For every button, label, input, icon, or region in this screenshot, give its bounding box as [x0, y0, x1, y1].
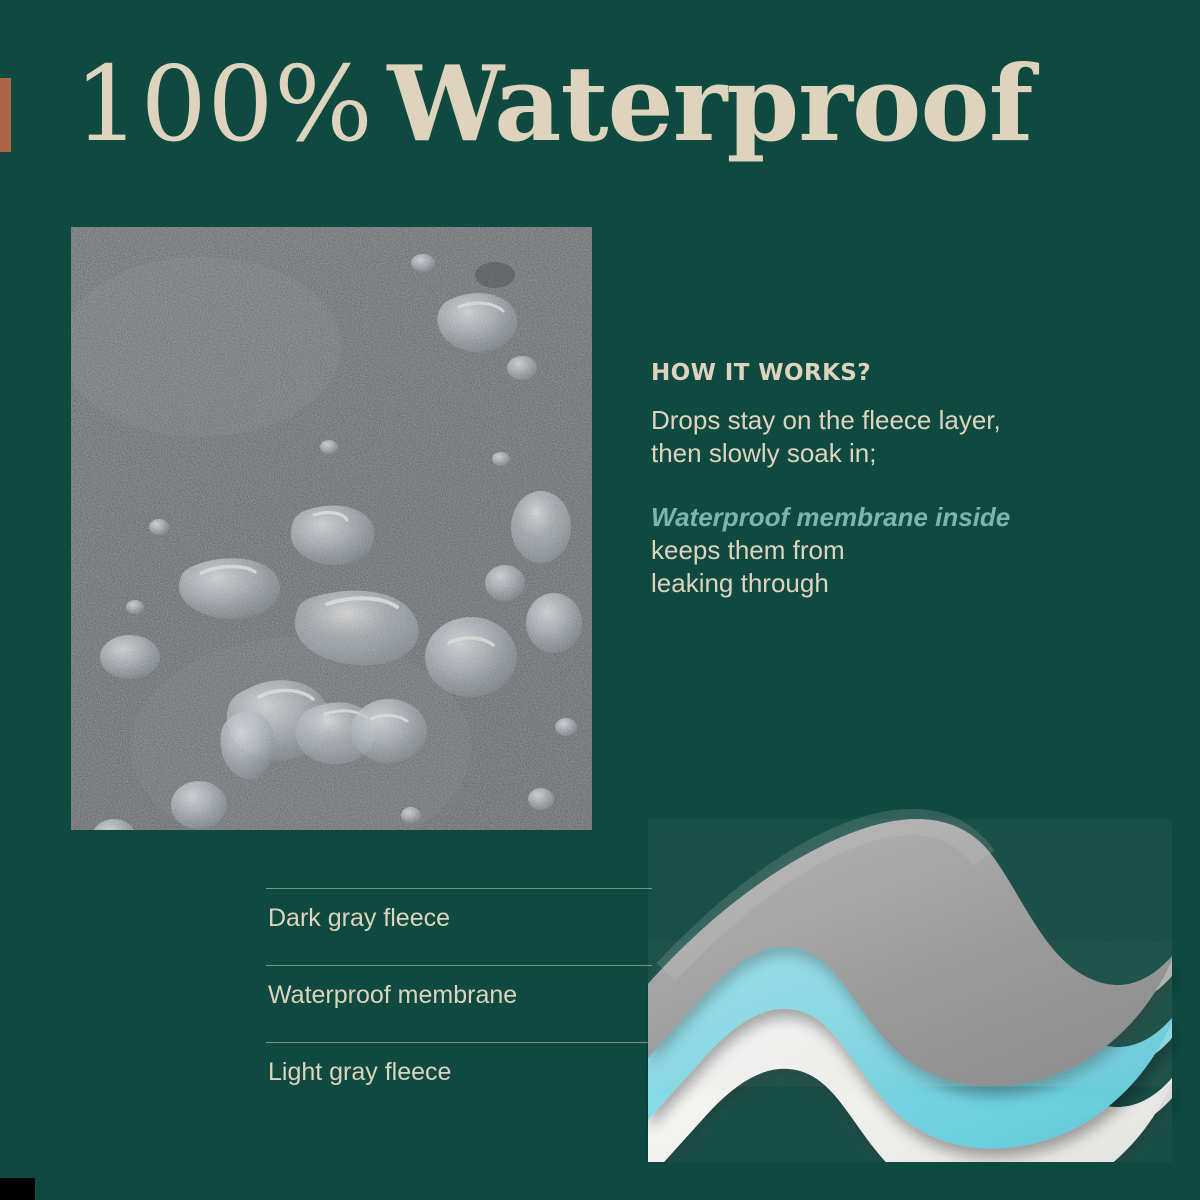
how-it-works-paragraph-2: Waterproof membrane inside keeps them fr…: [651, 501, 1161, 601]
legend-label: Light gray fleece: [268, 1058, 451, 1087]
layer-legend: Dark gray fleece Waterproof membrane Lig…: [266, 888, 652, 1119]
how-it-works-paragraph-1: Drops stay on the fleece layer, then slo…: [651, 404, 1161, 471]
title-percent: 100%: [74, 43, 373, 165]
legend-label: Waterproof membrane: [268, 981, 517, 1010]
orange-accent-bar: [0, 78, 11, 152]
fabric-layer-diagram: [646, 762, 1200, 1162]
title-word: Waterproof: [387, 42, 1032, 165]
legend-divider: [266, 888, 652, 889]
legend-item-waterproof-membrane: Waterproof membrane: [266, 965, 652, 1042]
how-it-works-line-4: leaking through: [651, 568, 829, 598]
how-it-works-block: HOW IT WORKS? Drops stay on the fleece l…: [651, 360, 1161, 600]
paragraph-spacer: [651, 471, 1161, 501]
page-title: 100%Waterproof: [74, 52, 1032, 156]
legend-divider: [266, 965, 652, 966]
legend-item-dark-gray-fleece: Dark gray fleece: [266, 888, 652, 965]
membrane-highlight-text: Waterproof membrane inside: [651, 501, 1161, 534]
how-it-works-line-3: keeps them from: [651, 535, 845, 565]
how-it-works-line-1: Drops stay on the fleece layer,: [651, 405, 1001, 435]
waterproof-fabric-photo: [71, 227, 592, 830]
how-it-works-title: HOW IT WORKS?: [651, 360, 1161, 386]
legend-divider: [266, 1042, 652, 1043]
corner-crop-mark: [0, 1178, 35, 1200]
legend-item-light-gray-fleece: Light gray fleece: [266, 1042, 652, 1119]
poster-canvas: 100%Waterproof: [0, 0, 1200, 1200]
how-it-works-line-2: then slowly soak in;: [651, 438, 876, 468]
legend-label: Dark gray fleece: [268, 904, 450, 933]
